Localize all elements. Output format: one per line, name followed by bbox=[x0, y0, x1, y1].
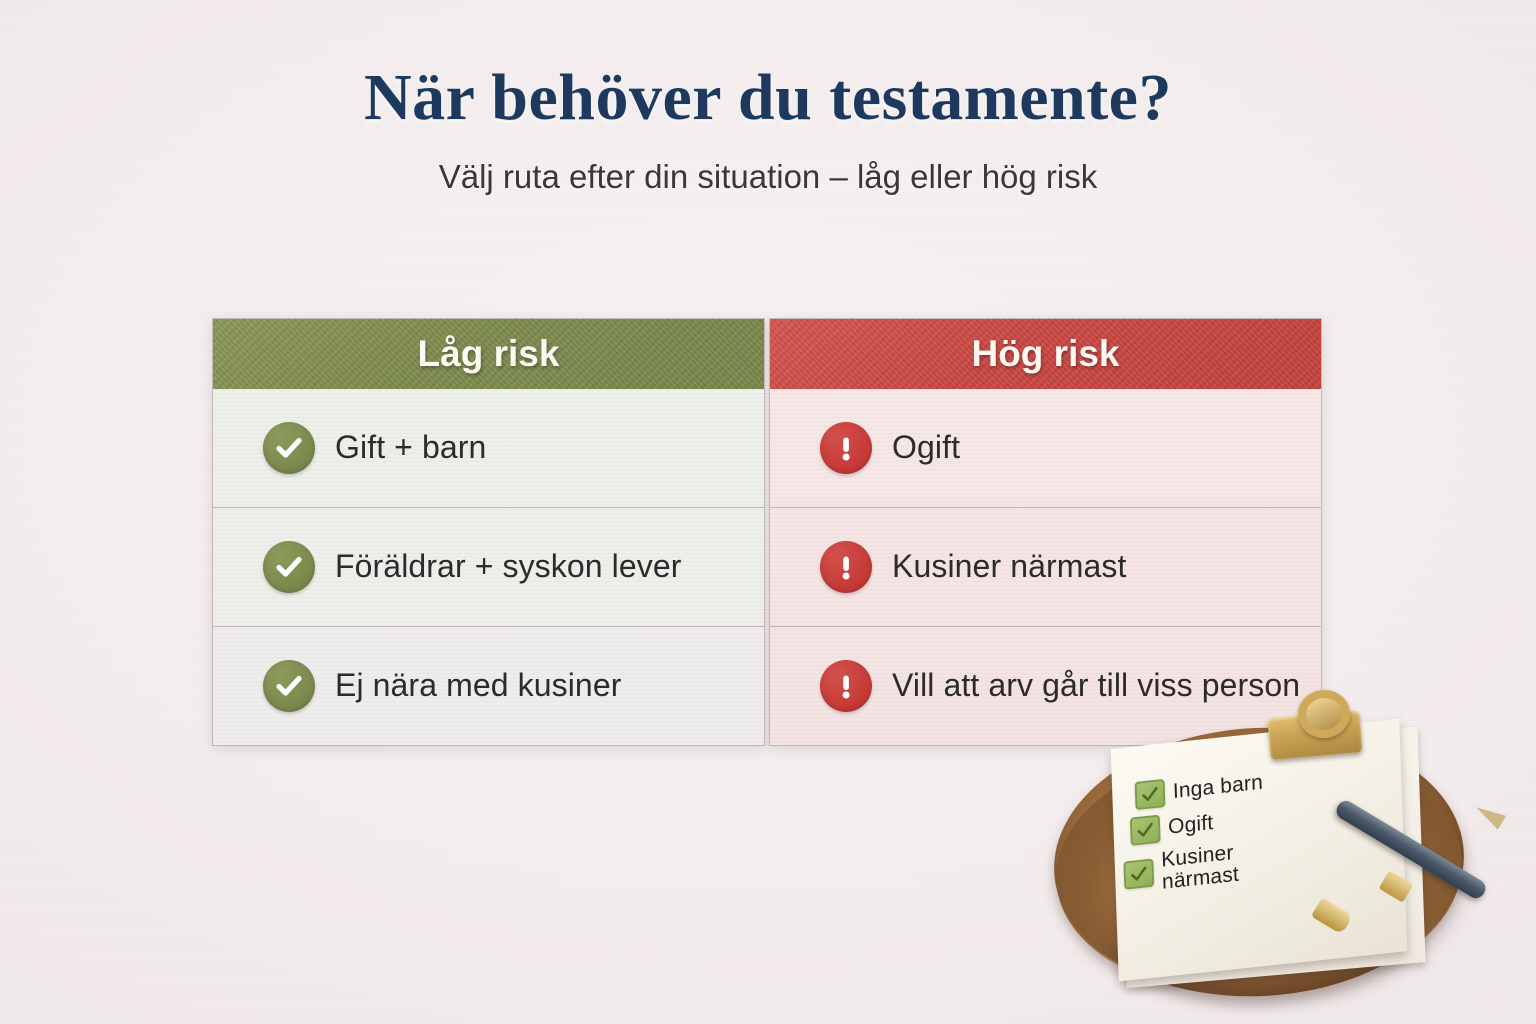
check-circle-icon bbox=[263, 660, 315, 712]
pen bbox=[1333, 798, 1489, 902]
table-row-label: Gift + barn bbox=[335, 428, 486, 468]
checkbox-checked-icon bbox=[1135, 779, 1166, 810]
table-row[interactable]: Ogift bbox=[770, 389, 1321, 507]
pen-end-cap bbox=[1311, 897, 1353, 934]
check-circle-icon bbox=[263, 422, 315, 474]
exclamation-circle-icon bbox=[820, 660, 872, 712]
column-header-high-risk-label: Hög risk bbox=[971, 333, 1119, 375]
table-row-label: Vill att arv går till viss person bbox=[892, 666, 1300, 706]
table-row[interactable]: Ej nära med kusiner bbox=[213, 626, 764, 745]
wooden-board-rim bbox=[1050, 736, 1469, 1007]
check-circle-icon bbox=[263, 541, 315, 593]
list-item-label: Ogift bbox=[1168, 812, 1214, 839]
clipboard-illustration: Inga barn Ogift Kusiner närmast bbox=[1026, 700, 1536, 1024]
table-row-label: Kusiner närmast bbox=[892, 547, 1126, 587]
checkbox-checked-icon bbox=[1130, 815, 1161, 846]
page-subtitle: Välj ruta efter din situation – låg elle… bbox=[0, 158, 1536, 196]
column-header-low-risk: Låg risk bbox=[213, 319, 764, 389]
risk-comparison-table: Låg risk Gift + barn bbox=[212, 318, 1322, 746]
column-high-risk-rows: Ogift Kusiner närmast bbox=[770, 389, 1321, 745]
table-row-label: Ej nära med kusiner bbox=[335, 666, 621, 706]
wooden-board bbox=[1047, 717, 1470, 1006]
checkbox-checked-icon bbox=[1123, 859, 1154, 890]
table-row-label: Föräldrar + syskon lever bbox=[335, 547, 682, 587]
clipboard-shadow bbox=[1056, 755, 1476, 1005]
table-row[interactable]: Kusiner närmast bbox=[770, 507, 1321, 626]
infographic-canvas: När behöver du testamente? Välj ruta eft… bbox=[0, 0, 1536, 1024]
list-item: Kusiner närmast bbox=[1123, 824, 1407, 898]
table-row[interactable]: Föräldrar + syskon lever bbox=[213, 507, 764, 626]
clipboard-checklist: Inga barn Ogift Kusiner närmast bbox=[1135, 754, 1408, 904]
column-low-risk: Låg risk Gift + barn bbox=[212, 318, 765, 746]
pen-band bbox=[1379, 870, 1414, 902]
table-row[interactable]: Gift + barn bbox=[213, 389, 764, 507]
table-row-label: Ogift bbox=[892, 428, 960, 468]
table-row[interactable]: Vill att arv går till viss person bbox=[770, 626, 1321, 745]
column-header-high-risk: Hög risk bbox=[770, 319, 1321, 389]
exclamation-circle-icon bbox=[820, 541, 872, 593]
column-header-low-risk-label: Låg risk bbox=[418, 333, 560, 375]
list-item-label: Inga barn bbox=[1173, 771, 1264, 803]
pen-tip bbox=[1472, 800, 1506, 829]
list-item: Inga barn bbox=[1135, 754, 1405, 810]
page-title: När behöver du testamente? bbox=[0, 62, 1536, 133]
paper-sheet-front bbox=[1111, 719, 1408, 982]
list-item: Ogift bbox=[1130, 789, 1405, 846]
exclamation-circle-icon bbox=[820, 422, 872, 474]
paper-sheet-back bbox=[1118, 727, 1425, 988]
column-low-risk-rows: Gift + barn Föräldrar + syskon lever bbox=[213, 389, 764, 745]
column-high-risk: Hög risk Ogift bbox=[769, 318, 1322, 746]
list-item-label: Kusiner närmast bbox=[1161, 837, 1282, 894]
